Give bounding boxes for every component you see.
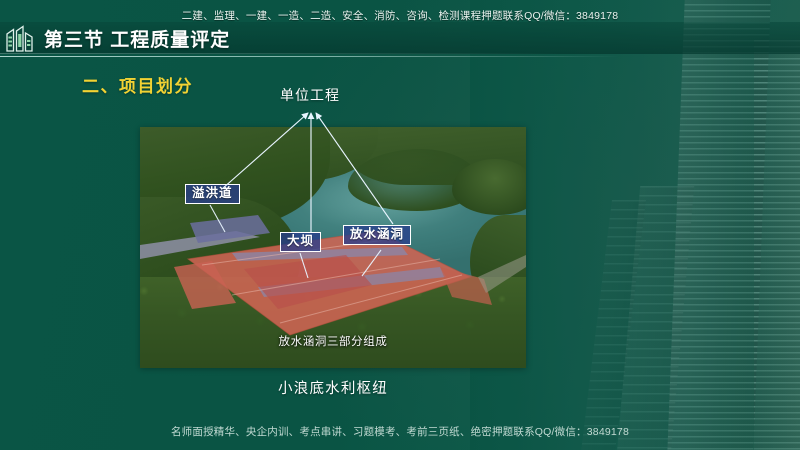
photo-label-dam: 大坝 <box>280 232 321 252</box>
watermark-tower-edge <box>754 40 800 450</box>
dam-aerial-photo: 溢洪道 大坝 放水涵洞 放水涵洞三部分组成 <box>140 127 526 368</box>
watermark-tower-far <box>580 200 646 450</box>
photo-dam-structure <box>140 127 526 368</box>
diagram-root-label: 单位工程 <box>248 85 372 105</box>
section-heading: 二、项目划分 <box>82 72 193 97</box>
photo-label-culvert: 放水涵洞 <box>343 225 411 245</box>
photo-label-spillway: 溢洪道 <box>185 184 240 204</box>
building-icon <box>4 21 38 55</box>
slide-canvas: 二建、监理、一建、一造、二造、安全、消防、咨询、检测课程押题联系QQ/微信：38… <box>0 0 800 450</box>
watermark-tower-mid <box>616 186 694 450</box>
photo-overlay-caption: 放水涵洞三部分组成 <box>140 333 526 349</box>
watermark-tower-main <box>667 0 771 450</box>
promo-banner-top: 二建、监理、一建、一造、二造、安全、消防、咨询、检测课程押题联系QQ/微信：38… <box>0 8 800 23</box>
header-divider-soft <box>0 53 560 54</box>
header-bar: 第三节 工程质量评定 <box>0 22 800 54</box>
promo-banner-bottom: 名师面授精华、央企内训、考点串讲、习题模考、考前三页纸、绝密押题联系QQ/微信：… <box>0 424 800 439</box>
page-title: 第三节 工程质量评定 <box>44 25 230 52</box>
header-divider <box>0 56 618 57</box>
figure-caption: 小浪底水利枢纽 <box>200 377 466 398</box>
